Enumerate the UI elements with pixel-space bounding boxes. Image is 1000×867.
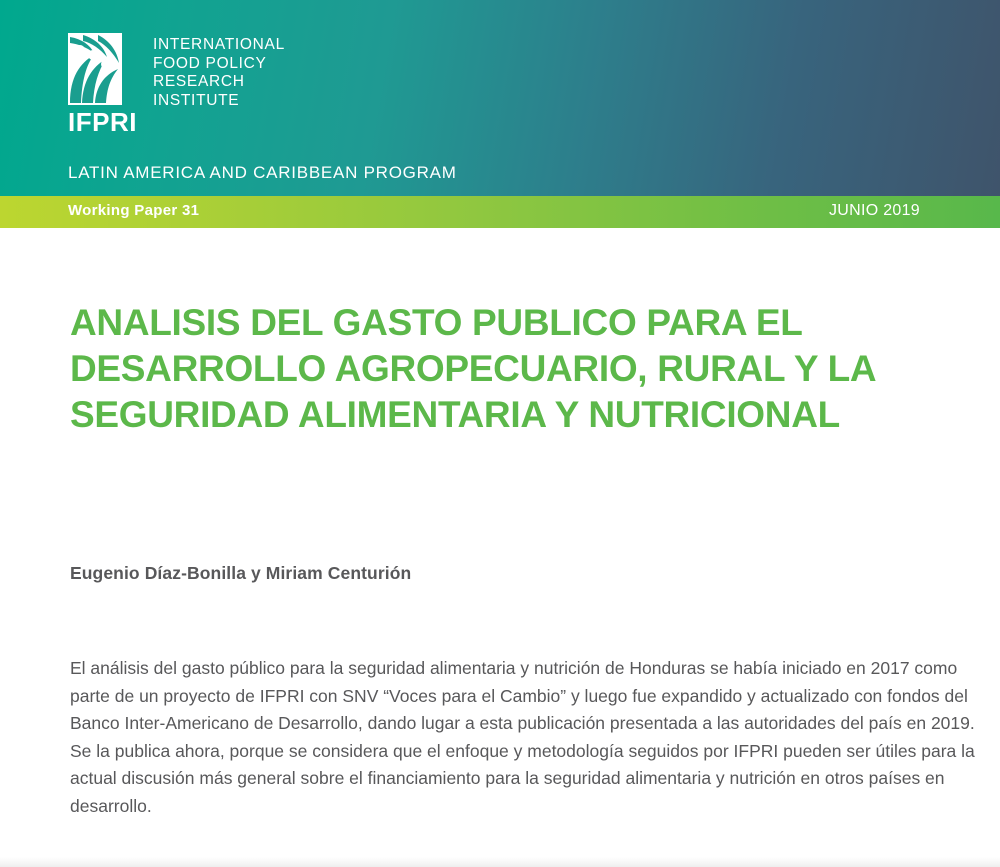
ifpri-logo-line-3: RESEARCH (153, 73, 285, 92)
abstract-paragraph: El análisis del gasto público para la se… (70, 655, 982, 820)
ifpri-logo-mark-icon (68, 33, 122, 105)
program-name: LATIN AMERICA AND CARIBBEAN PROGRAM (68, 163, 457, 183)
ifpri-logo-line-4: INSTITUTE (153, 92, 285, 111)
document-cover-page: IFPRI INTERNATIONAL FOOD POLICY RESEARCH… (0, 0, 1000, 867)
ifpri-logo-markwrap: IFPRI (68, 33, 137, 135)
ifpri-logo-line-2: FOOD POLICY (153, 55, 285, 74)
ifpri-wordmark: IFPRI (68, 109, 137, 135)
ifpri-logo-line-1: INTERNATIONAL (153, 36, 285, 55)
header-band: IFPRI INTERNATIONAL FOOD POLICY RESEARCH… (0, 0, 1000, 196)
working-paper-number: Working Paper 31 (68, 202, 199, 219)
page-title: ANALISIS DEL GASTO PUBLICO PARA EL DESAR… (70, 300, 920, 438)
ifpri-logo-lines: INTERNATIONAL FOOD POLICY RESEARCH INSTI… (153, 36, 285, 110)
working-paper-strip: Working Paper 31 JUNIO 2019 (0, 196, 1000, 228)
authors-line: Eugenio Díaz-Bonilla y Miriam Centurión (70, 563, 411, 584)
ifpri-logo: IFPRI INTERNATIONAL FOOD POLICY RESEARCH… (68, 33, 285, 135)
publication-date: JUNIO 2019 (829, 202, 920, 220)
page-bottom-edge (0, 857, 1000, 867)
